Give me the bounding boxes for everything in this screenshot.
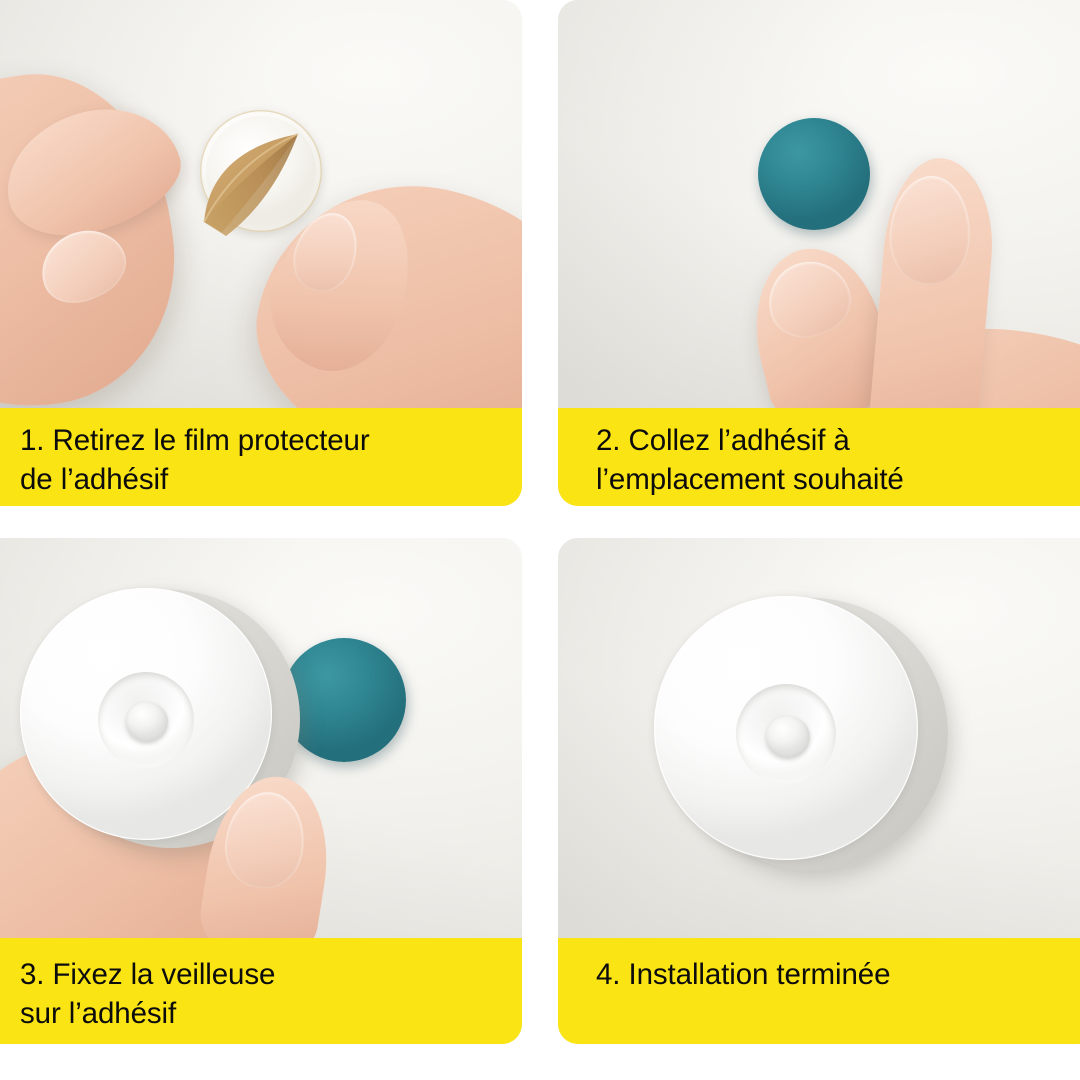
step-3-caption-bar: 3. Fixez la veilleuse sur l’adhésif	[0, 938, 522, 1044]
step-1-photo	[0, 0, 522, 408]
step-panel-1: 1. Retirez le film protecteur de l’adhés…	[0, 0, 522, 506]
motion-sensor-dome	[126, 702, 168, 742]
step-3-photo	[0, 538, 522, 938]
motion-sensor-dome	[766, 716, 810, 758]
step-panel-3: 3. Fixez la veilleuse sur l’adhésif	[0, 538, 522, 1044]
step-2-photo	[558, 0, 1080, 408]
step-2-caption-bar: 2. Collez l’adhésif à l’emplacement souh…	[558, 408, 1080, 506]
instruction-sheet: 1. Retirez le film protecteur de l’adhés…	[0, 0, 1080, 1080]
teal-adhesive-disc	[758, 118, 870, 230]
sensor-recess	[736, 684, 836, 784]
teal-adhesive-disc	[282, 638, 406, 762]
step-2-caption-text: 2. Collez l’adhésif à l’emplacement souh…	[596, 422, 1080, 499]
night-light-face	[654, 596, 918, 860]
step-4-caption-text: 4. Installation terminée	[596, 956, 1080, 995]
step-panel-4: 4. Installation terminée	[558, 538, 1080, 1044]
step-4-photo	[558, 538, 1080, 938]
step-4-caption-bar: 4. Installation terminée	[558, 938, 1080, 1044]
step-1-caption-bar: 1. Retirez le film protecteur de l’adhés…	[0, 408, 522, 506]
sensor-recess	[98, 672, 194, 768]
step-3-caption-text: 3. Fixez la veilleuse sur l’adhésif	[20, 956, 504, 1033]
step-panel-2: 2. Collez l’adhésif à l’emplacement souh…	[558, 0, 1080, 506]
step-1-caption-text: 1. Retirez le film protecteur de l’adhés…	[20, 422, 504, 499]
